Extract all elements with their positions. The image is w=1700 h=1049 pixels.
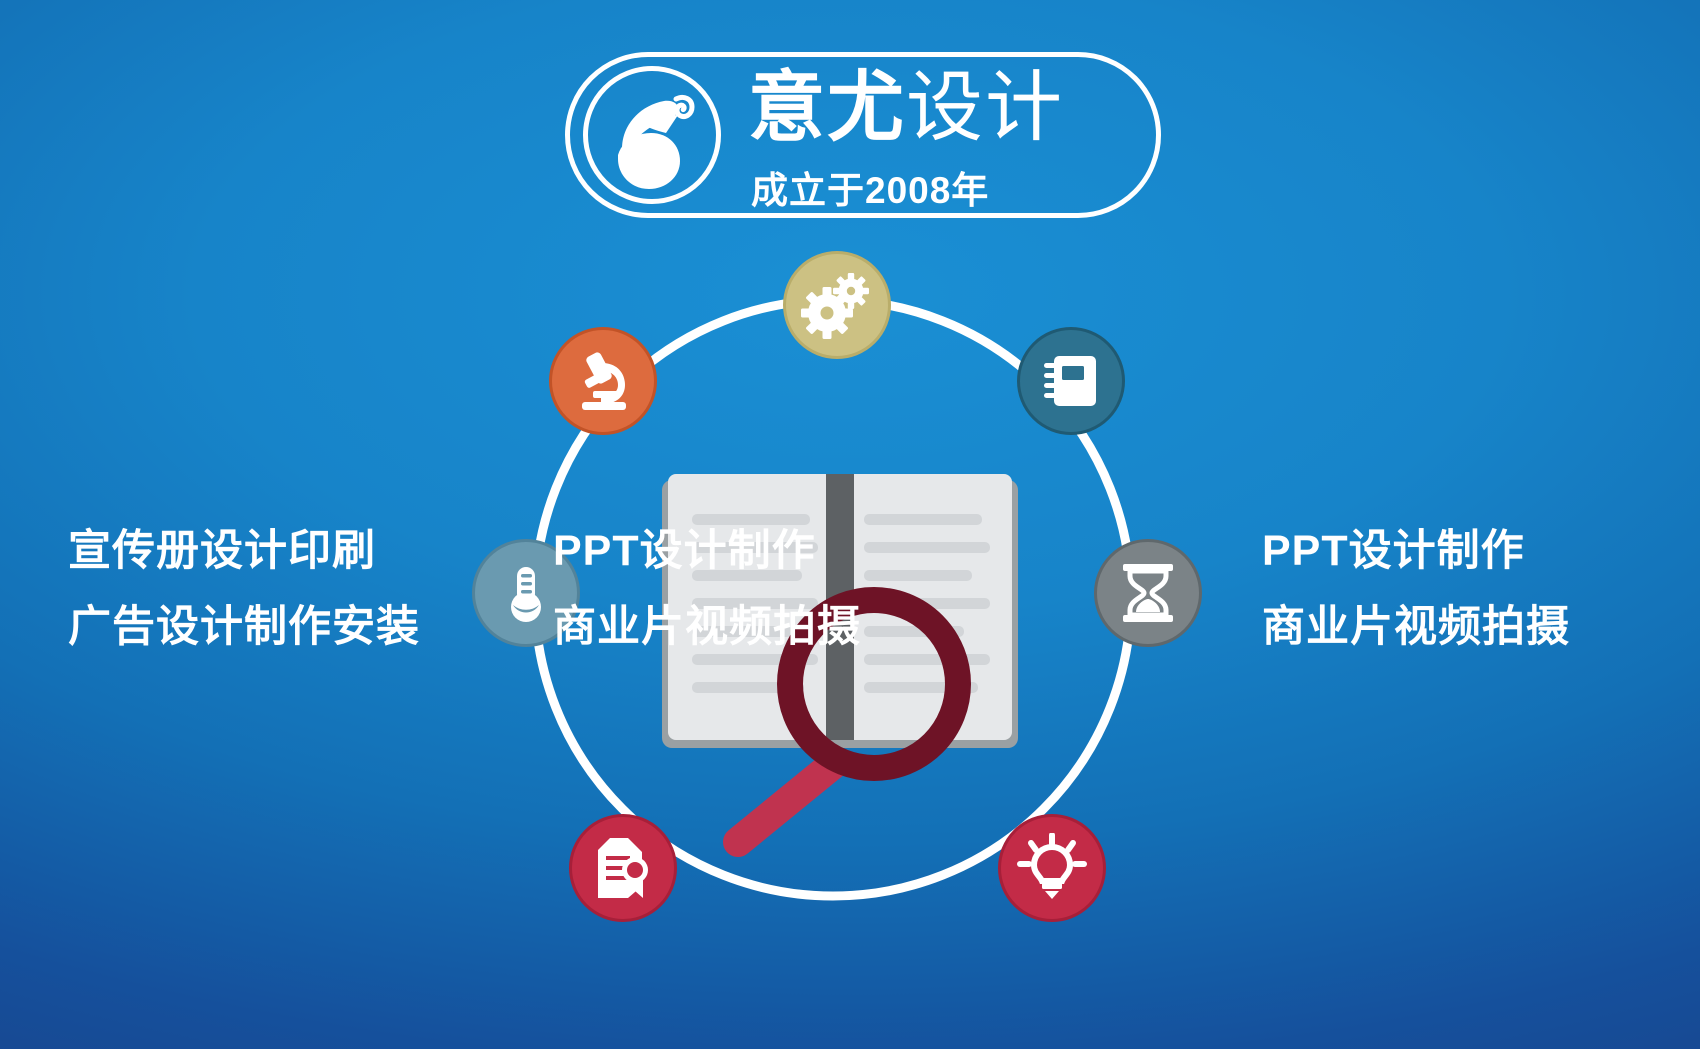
logo-tagline: 成立于2008年 [751,160,989,214]
services-right: PPT设计制作 商业片视频拍摄 [1262,513,1570,665]
logo-wordmark: 意尤设计 [748,65,1064,151]
logo-name-bold: 意尤 [748,65,906,151]
gears-icon[interactable] [783,251,891,359]
notebook-icon[interactable] [1017,327,1125,435]
services-right-line2: 商业片视频拍摄 [1262,589,1570,665]
brand-logo: 意尤设计 成立于2008年 [565,52,1165,222]
services-right-line1: PPT设计制作 [1262,513,1570,589]
services-left-line1: 宣传册设计印刷 [68,513,420,589]
services-center: PPT设计制作 商业片视频拍摄 [553,513,861,665]
leaf-swirl-logo-icon [583,66,721,204]
lightbulb-icon[interactable] [998,814,1106,922]
microscope-icon[interactable] [549,327,657,435]
logo-name-thin: 设计 [906,65,1064,151]
services-left: 宣传册设计印刷 广告设计制作安装 [68,513,420,665]
hourglass-icon[interactable] [1094,539,1202,647]
services-center-line1: PPT设计制作 [553,513,861,589]
services-left-line2: 广告设计制作安装 [68,589,420,665]
slide-canvas: 意尤设计 成立于2008年 [0,0,1700,1049]
services-center-line2: 商业片视频拍摄 [553,589,861,665]
certificate-award-icon[interactable] [569,814,677,922]
